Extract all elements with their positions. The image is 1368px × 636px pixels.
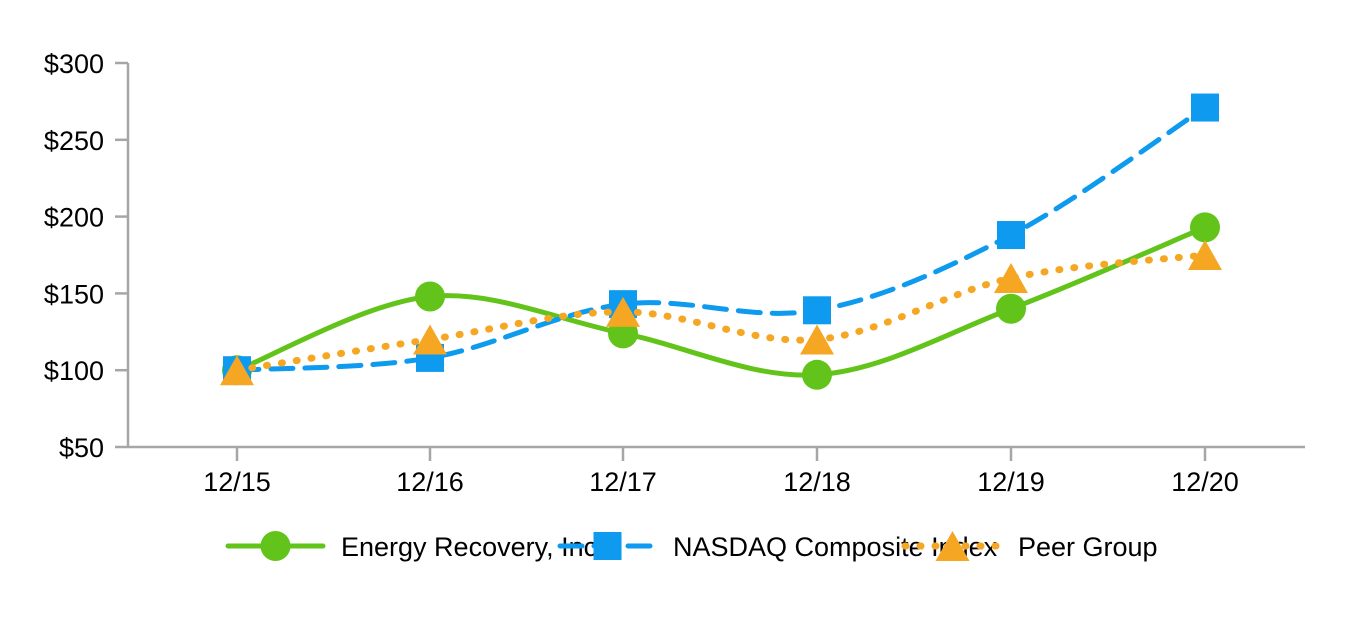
data-point-square-marker bbox=[1191, 94, 1219, 122]
y-axis-tick-labels: $50$100$150$200$250$300 bbox=[44, 49, 104, 463]
stock-performance-chart: $50$100$150$200$250$300 12/1512/1612/171… bbox=[0, 0, 1368, 636]
data-point-circle-marker bbox=[996, 294, 1026, 324]
y-axis-tick-label: $150 bbox=[44, 279, 104, 309]
data-point-square-marker bbox=[997, 221, 1025, 249]
y-axis: $50$100$150$200$250$300 bbox=[44, 49, 128, 463]
chart-legend: Energy Recovery, Inc.NASDAQ Composite In… bbox=[228, 531, 1158, 562]
x-axis-tick-label: 12/19 bbox=[977, 467, 1045, 497]
y-axis-tick-label: $300 bbox=[44, 49, 104, 79]
x-axis-tick-labels: 12/1512/1612/1712/1812/1912/20 bbox=[203, 467, 1239, 497]
data-point-circle-marker bbox=[415, 281, 445, 311]
legend-item-1[interactable]: Energy Recovery, Inc. bbox=[228, 531, 605, 562]
data-point-circle-marker bbox=[802, 360, 832, 390]
legend-circle-marker bbox=[261, 531, 291, 561]
legend-square-marker bbox=[594, 532, 622, 560]
data-point-circle-marker bbox=[1190, 212, 1220, 242]
series-line-square bbox=[237, 108, 1205, 371]
series-line-triangle bbox=[237, 255, 1205, 370]
series-2 bbox=[223, 94, 1219, 385]
y-axis-tick-label: $200 bbox=[44, 203, 104, 233]
x-axis-tick-label: 12/18 bbox=[783, 467, 851, 497]
y-axis-tick-label: $50 bbox=[59, 433, 104, 463]
x-axis-tick-label: 12/16 bbox=[396, 467, 464, 497]
x-axis: 12/1512/1612/1712/1812/1912/20 bbox=[128, 447, 1305, 497]
y-axis-tick-label: $100 bbox=[44, 356, 104, 386]
y-axis-tick-label: $250 bbox=[44, 126, 104, 156]
y-axis-ticks bbox=[115, 63, 128, 447]
plot-area bbox=[220, 94, 1222, 390]
x-axis-tick-label: 12/15 bbox=[203, 467, 271, 497]
x-axis-tick-label: 12/20 bbox=[1171, 467, 1239, 497]
data-point-square-marker bbox=[803, 296, 831, 324]
series-line-circle bbox=[237, 227, 1205, 375]
chart-canvas: $50$100$150$200$250$300 12/1512/1612/171… bbox=[0, 0, 1368, 636]
x-axis-tick-label: 12/17 bbox=[589, 467, 657, 497]
legend-item-label: Peer Group bbox=[1018, 532, 1158, 562]
x-axis-ticks bbox=[237, 447, 1205, 461]
